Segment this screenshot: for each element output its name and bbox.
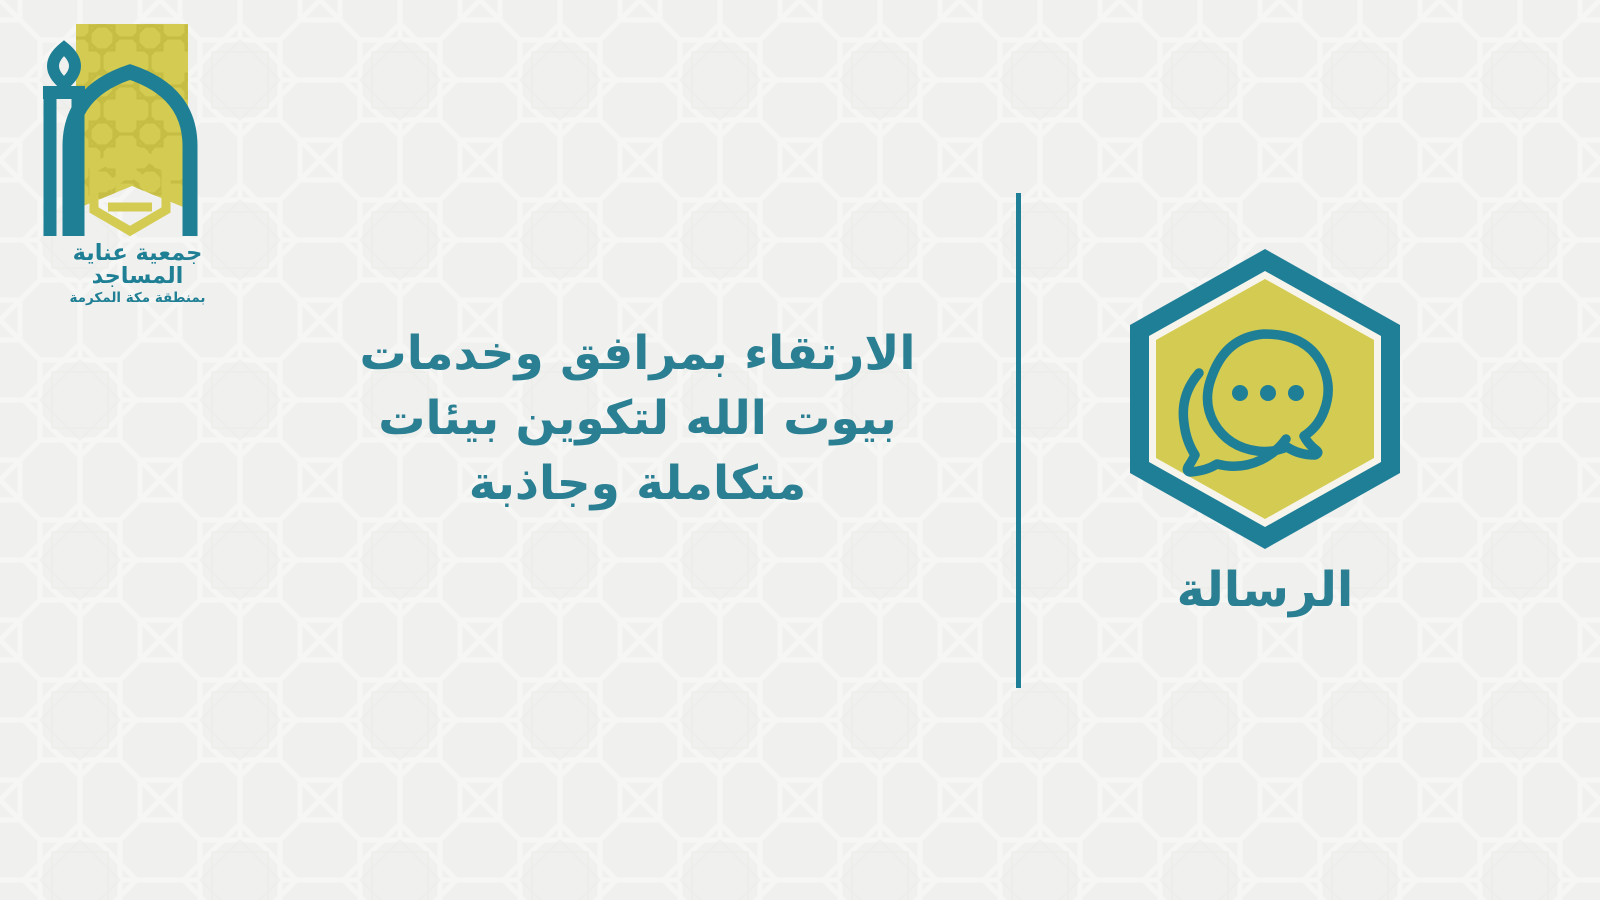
logo-wordmark: جمعية عناية المساجد بمنطقة مكة المكرمة	[30, 242, 245, 306]
mission-statement-text: الارتقاء بمرافق وخدمات بيوت الله لتكوين …	[315, 322, 960, 517]
organization-logo: جمعية عناية المساجد بمنطقة مكة المكرمة	[30, 14, 245, 299]
mosque-minaret-logo-icon	[30, 14, 245, 244]
hexagon-badge-shape	[1122, 245, 1408, 553]
headline-line-3: متكاملة وجاذبة	[315, 452, 960, 517]
logo-organization-name: جمعية عناية المساجد	[30, 242, 245, 287]
badge-label: الرسالة	[1122, 566, 1408, 614]
logo-region-subtitle: بمنطقة مكة المكرمة	[30, 292, 245, 306]
headline-line-1: الارتقاء بمرافق وخدمات	[315, 322, 960, 387]
vertical-divider	[1016, 193, 1021, 688]
headline-line-2: بيوت الله لتكوين بيئات	[315, 387, 960, 452]
